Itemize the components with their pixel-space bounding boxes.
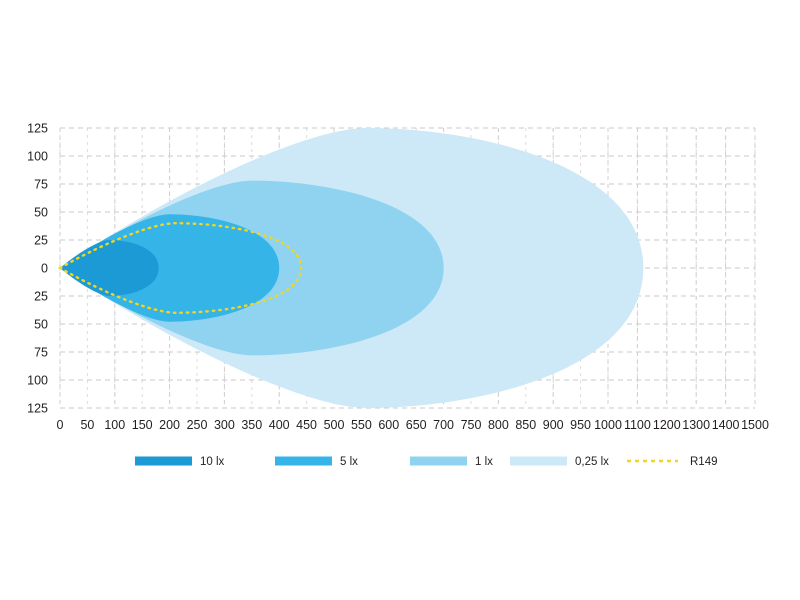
x-tick-label: 950 <box>570 418 591 432</box>
x-tick-label: 600 <box>378 418 399 432</box>
y-tick-label: 75 <box>34 346 48 360</box>
y-tick-label: 50 <box>34 206 48 220</box>
x-tick-label: 0 <box>57 418 64 432</box>
legend-label: 1 lx <box>475 456 493 468</box>
isolux-diagram-svg: 1251007550250255075100125 05010015020025… <box>0 0 800 600</box>
legend-swatch <box>410 457 467 466</box>
legend-label: 0,25 lx <box>575 456 609 468</box>
y-tick-label: 0 <box>41 262 48 276</box>
y-tick-label: 100 <box>27 374 48 388</box>
x-tick-label: 50 <box>80 418 94 432</box>
x-axis-tick-labels: 0501001502002503003504004505005506006507… <box>57 418 769 432</box>
x-tick-label: 500 <box>324 418 345 432</box>
x-tick-label: 800 <box>488 418 509 432</box>
legend-swatch <box>510 457 567 466</box>
legend-label: R149 <box>690 456 718 468</box>
x-tick-label: 300 <box>214 418 235 432</box>
x-tick-label: 1500 <box>741 418 769 432</box>
x-tick-label: 650 <box>406 418 427 432</box>
y-tick-label: 75 <box>34 178 48 192</box>
legend-swatch <box>135 457 192 466</box>
legend-label: 5 lx <box>340 456 358 468</box>
x-tick-label: 1400 <box>712 418 740 432</box>
x-tick-label: 200 <box>159 418 180 432</box>
x-tick-label: 1100 <box>624 418 651 432</box>
x-tick-label: 1000 <box>594 418 622 432</box>
y-tick-label: 125 <box>27 402 48 416</box>
y-tick-label: 100 <box>27 150 48 164</box>
x-tick-label: 850 <box>515 418 536 432</box>
x-tick-label: 450 <box>296 418 317 432</box>
x-tick-label: 700 <box>433 418 454 432</box>
x-tick-label: 1200 <box>653 418 681 432</box>
y-tick-label: 50 <box>34 318 48 332</box>
x-tick-label: 350 <box>241 418 262 432</box>
legend-swatch <box>275 457 332 466</box>
legend-label: 10 lx <box>200 456 225 468</box>
light-distribution-chart: 1251007550250255075100125 05010015020025… <box>0 0 800 600</box>
x-tick-label: 1300 <box>682 418 710 432</box>
y-tick-label: 25 <box>34 290 48 304</box>
x-tick-label: 900 <box>543 418 564 432</box>
y-tick-label: 125 <box>27 122 48 136</box>
x-tick-label: 400 <box>269 418 290 432</box>
x-tick-label: 550 <box>351 418 372 432</box>
x-tick-label: 250 <box>187 418 208 432</box>
y-tick-label: 25 <box>34 234 48 248</box>
x-tick-label: 150 <box>132 418 153 432</box>
x-tick-label: 750 <box>461 418 482 432</box>
x-tick-label: 100 <box>104 418 125 432</box>
